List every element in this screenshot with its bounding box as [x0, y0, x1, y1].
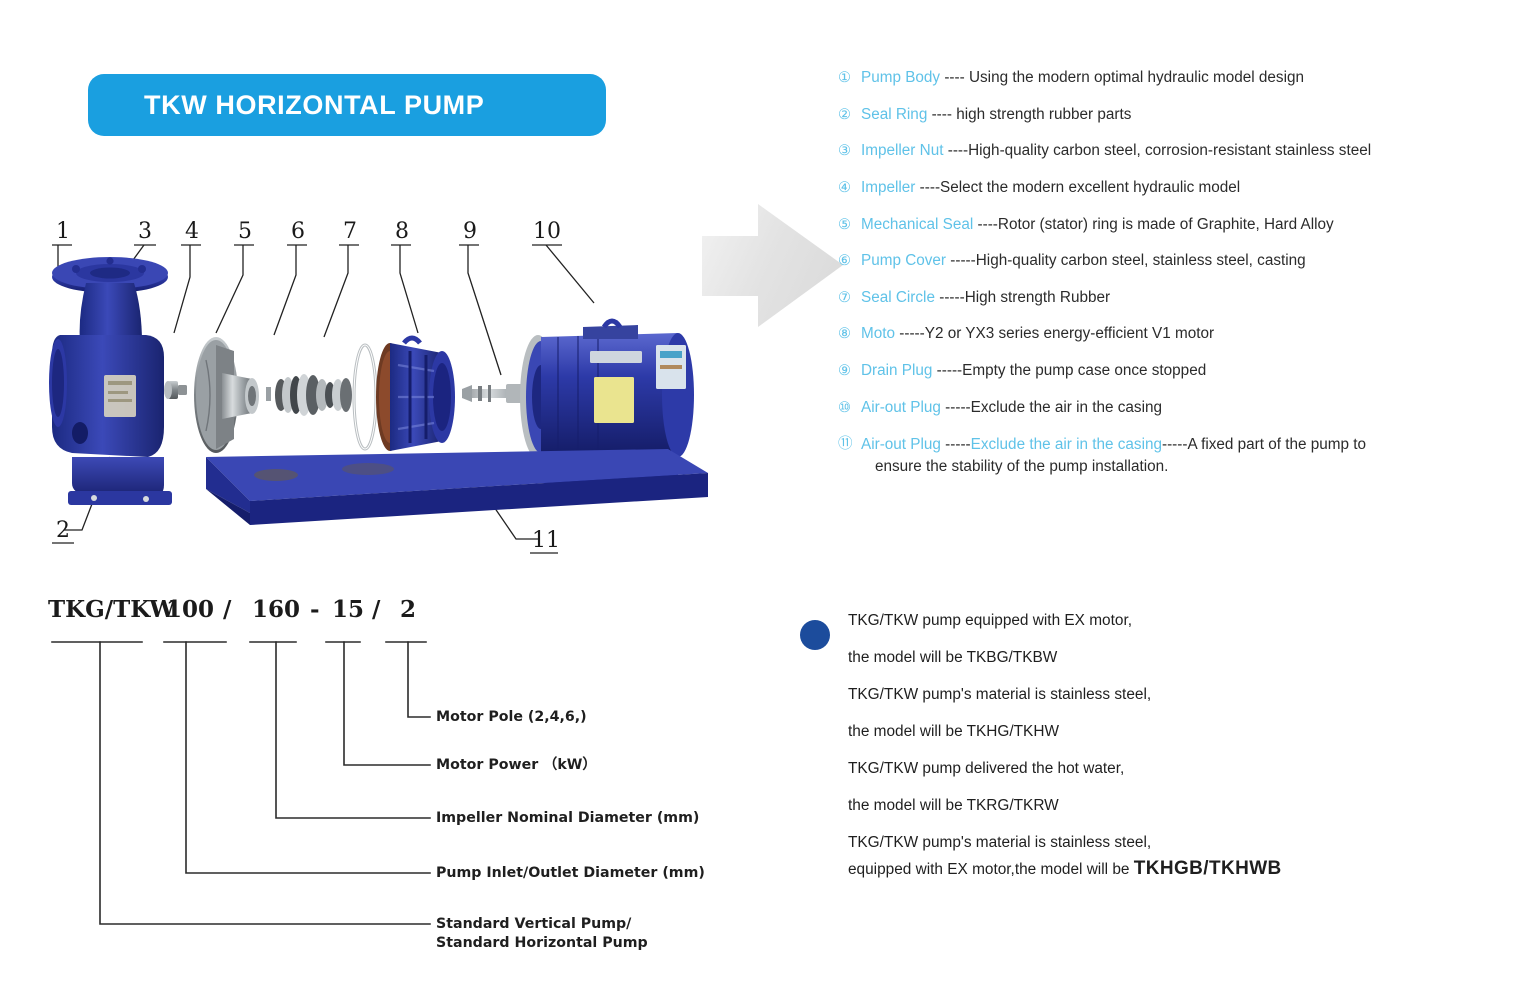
parts-legend-list: ① Pump Body ---- Using the modern optima… [838, 68, 1503, 496]
legend-dash: ---- [940, 69, 969, 86]
note-line: the model will be TKHG/TKHW [848, 723, 1440, 741]
callout-5: 5 [238, 219, 252, 244]
legend-dash: ---- [943, 142, 968, 159]
legend-number-icon: ⑦ [838, 288, 861, 307]
legend-item: ⑩ Air-out Plug -----Exclude the air in t… [838, 398, 1503, 417]
callout-6: 6 [291, 219, 305, 244]
model-variant-notes: TKG/TKW pump equipped with EX motor, the… [800, 612, 1440, 900]
legend-number-icon: ① [838, 68, 861, 87]
legend-dash: ----- [946, 252, 976, 269]
legend-number-icon: ④ [838, 178, 861, 197]
legend-number-icon: ② [838, 105, 861, 124]
note-line: the model will be TKBG/TKBW [848, 649, 1440, 667]
legend-item: ⑥ Pump Cover -----High-quality carbon st… [838, 251, 1503, 270]
legend-number-icon: ⑧ [838, 324, 861, 343]
pump-cover-part [376, 338, 455, 451]
legend-dash: ---- [973, 216, 998, 233]
legend-number-icon: ⑩ [838, 398, 861, 417]
impeller-part [194, 337, 259, 453]
label-standard-pump-line1: Standard Vertical Pump/ [436, 916, 631, 932]
note-text: the model will be TKHG/TKHW [848, 723, 1059, 740]
callout-8: 8 [395, 219, 409, 244]
legend-description: Select the modern excellent hydraulic mo… [940, 179, 1240, 196]
callout-10: 10 [533, 219, 561, 244]
legend-description-line2: ensure the stability of the pump install… [861, 456, 1503, 478]
legend-part-name: Pump Cover [861, 252, 946, 269]
label-inlet-outlet-diameter: Pump Inlet/Outlet Diameter (mm) [436, 864, 705, 883]
note-line: TKG/TKW pump equipped with EX motor, [848, 612, 1440, 630]
legend-number-icon: ⑪ [838, 434, 861, 453]
legend-item: ④ Impeller ----Select the modern excelle… [838, 178, 1503, 197]
note-text: equipped with EX motor,the model will be [848, 861, 1134, 878]
note-line-final-1: TKG/TKW pump's material is stainless ste… [848, 834, 1440, 852]
legend-part-name: Air-out Plug [861, 399, 941, 416]
legend-dash: ---- [927, 106, 956, 123]
legend-item: ⑧ Moto -----Y2 or YX3 series energy-effi… [838, 324, 1503, 343]
label-motor-power: Motor Power （kW） [436, 756, 597, 775]
legend-description: Empty the pump case once stopped [962, 362, 1206, 379]
pump-body-part [49, 257, 172, 505]
legend-dash: ---- [915, 179, 940, 196]
callout-9: 9 [463, 219, 477, 244]
mechanical-seal-part [266, 374, 352, 416]
legend-description: Using the modern optimal hydraulic model… [969, 69, 1304, 86]
legend-dash: ----- [932, 362, 962, 379]
legend-item: ③ Impeller Nut ----High-quality carbon s… [838, 141, 1503, 160]
callout-1: 1 [56, 219, 70, 244]
note-text: the model will be TKRG/TKRW [848, 797, 1059, 814]
callout-11: 11 [532, 528, 560, 553]
legend-dash: ----- [941, 436, 971, 453]
legend-description-highlight: Exclude the air in the casing [971, 436, 1162, 453]
note-line: TKG/TKW pump's material is stainless ste… [848, 686, 1440, 704]
right-arrow-icon [700, 198, 845, 333]
page-title: TKW HORIZONTAL PUMP [88, 90, 484, 121]
legend-item: ⑦ Seal Circle -----High strength Rubber [838, 288, 1503, 307]
note-line: TKG/TKW pump delivered the hot water, [848, 760, 1440, 778]
legend-part-name: Moto [861, 325, 895, 342]
note-line: the model will be TKRG/TKRW [848, 797, 1440, 815]
legend-description: High-quality carbon steel, stainless ste… [976, 252, 1306, 269]
label-motor-pole: Motor Pole (2,4,6,) [436, 708, 587, 727]
bullet-dot-icon [800, 620, 830, 650]
legend-dash: ----- [935, 289, 965, 306]
legend-item: ⑪ Air-out Plug -----Exclude the air in t… [838, 434, 1503, 478]
legend-number-icon: ③ [838, 141, 861, 160]
page-root: TKW HORIZONTAL PUMP [0, 0, 1513, 1000]
legend-part-name: Impeller [861, 179, 915, 196]
legend-description: High-quality carbon steel, corrosion-res… [968, 142, 1371, 159]
note-text: TKG/TKW pump delivered the hot water, [848, 760, 1124, 777]
note-line-final-2: equipped with EX motor,the model will be… [848, 858, 1440, 881]
legend-number-icon: ⑤ [838, 215, 861, 234]
legend-part-name: Drain Plug [861, 362, 932, 379]
legend-item: ② Seal Ring ---- high strength rubber pa… [838, 105, 1503, 124]
legend-description: Rotor (stator) ring is made of Graphite,… [998, 216, 1334, 233]
label-impeller-diameter: Impeller Nominal Diameter (mm) [436, 809, 699, 828]
page-title-banner: TKW HORIZONTAL PUMP [88, 74, 606, 136]
model-code-breakdown: TKG/TKW 100 / 160 - 15 / 2 [38, 596, 738, 966]
legend-description: -----A fixed part of the pump to [1162, 436, 1366, 453]
label-standard-pump: Standard Vertical Pump/ Standard Horizon… [436, 915, 648, 953]
callout-3: 3 [138, 219, 152, 244]
legend-part-name: Impeller Nut [861, 142, 943, 159]
legend-number-icon: ⑨ [838, 361, 861, 380]
seal-circle-part [354, 345, 376, 449]
legend-part-name: Seal Circle [861, 289, 935, 306]
legend-part-name: Mechanical Seal [861, 216, 973, 233]
legend-description: High strength Rubber [965, 289, 1110, 306]
legend-item: ① Pump Body ---- Using the modern optima… [838, 68, 1503, 87]
legend-number-icon: ⑥ [838, 251, 861, 270]
legend-description: Y2 or YX3 series energy-efficient V1 mot… [925, 325, 1214, 342]
exploded-pump-diagram: 1 3 4 5 6 7 8 9 10 2 11 [38, 205, 718, 560]
legend-dash: ----- [895, 325, 925, 342]
legend-part-name: Pump Body [861, 69, 940, 86]
legend-dash: ----- [941, 399, 971, 416]
callout-4: 4 [185, 219, 199, 244]
legend-item: ⑨ Drain Plug -----Empty the pump case on… [838, 361, 1503, 380]
model-leader-lines [38, 596, 738, 966]
impeller-nut-part [164, 381, 187, 399]
legend-part-name: Air-out Plug [861, 436, 941, 453]
callout-7: 7 [343, 219, 357, 244]
note-text: the model will be TKBG/TKBW [848, 649, 1057, 666]
note-text: TKG/TKW pump's material is stainless ste… [848, 686, 1151, 703]
legend-item: ⑤ Mechanical Seal ----Rotor (stator) rin… [838, 215, 1503, 234]
note-text-emphasis: TKHGB/TKHWB [1134, 858, 1282, 879]
base-plate-part [206, 449, 708, 525]
callout-2: 2 [56, 518, 70, 543]
legend-description: Exclude the air in the casing [971, 399, 1162, 416]
legend-description: high strength rubber parts [956, 106, 1131, 123]
note-text: TKG/TKW pump's material is stainless ste… [848, 834, 1151, 851]
legend-part-name: Seal Ring [861, 106, 927, 123]
note-text: TKG/TKW pump equipped with EX motor, [848, 612, 1132, 629]
label-standard-pump-line2: Standard Horizontal Pump [436, 935, 648, 951]
